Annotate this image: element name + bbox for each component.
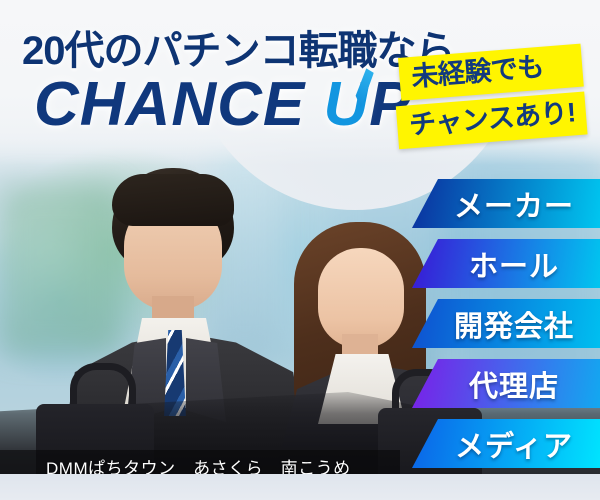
male-fringe bbox=[112, 174, 234, 226]
bottom-strip bbox=[0, 474, 600, 500]
logo-u-group: U bbox=[323, 74, 369, 136]
category-label: 開発会社 bbox=[438, 303, 574, 345]
category-bar-developer[interactable]: 開発会社 bbox=[412, 299, 600, 348]
chance-up-logo: CHANCE UP bbox=[34, 74, 412, 136]
category-bar-media[interactable]: メディア bbox=[412, 419, 600, 468]
headline-text: 20代のパチンコ転職なら bbox=[22, 18, 455, 76]
no-experience-badge: 未経験でも チャンスあり! bbox=[398, 44, 587, 149]
logo-text-chance: CHANCE bbox=[34, 70, 323, 139]
category-label: 代理店 bbox=[453, 363, 559, 405]
category-label: メディア bbox=[439, 423, 573, 465]
category-label: ホール bbox=[453, 243, 559, 285]
promo-banner: 20代のパチンコ転職なら CHANCE UP 未経験でも チャンスあり! メーカ… bbox=[0, 0, 600, 500]
female-fringe bbox=[306, 224, 414, 276]
category-bar-hall[interactable]: ホール bbox=[412, 239, 600, 288]
category-list: メーカー ホール 開発会社 代理店 メディア bbox=[412, 179, 600, 468]
category-bar-agency[interactable]: 代理店 bbox=[412, 359, 600, 408]
category-label: メーカー bbox=[438, 183, 574, 225]
category-bar-maker[interactable]: メーカー bbox=[412, 179, 600, 228]
